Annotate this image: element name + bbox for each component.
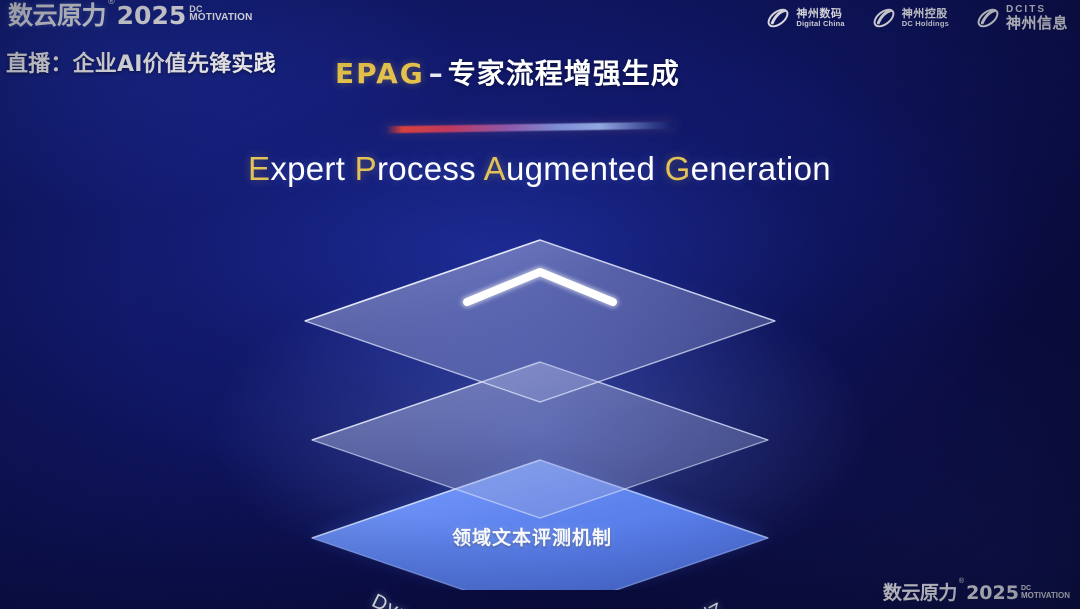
expansion-rest-expert: xpert [270,150,345,187]
swirl-logo-icon [765,5,791,31]
partner-logo-dcits: DCITS 神州信息 [975,5,1068,31]
partner-name-en: DC Holdings [902,20,949,28]
swirl-logo-icon [871,5,897,31]
watermark-name-cn: 数云原力 [883,584,957,603]
title-acronym: EPAG [335,57,425,90]
partner-logo-text: 神州数码 Digital China [796,8,844,27]
brand-year: 2025 [117,3,187,28]
layer-label-long-text-memory: 长文本记忆 [620,593,731,609]
partner-logo-text: 神州控股 DC Holdings [902,8,949,27]
expansion-rest-augmented: ugmented [506,150,655,187]
partner-logo-dc-holdings: 神州控股 DC Holdings [871,5,949,31]
brand-dc-motivation: DC MOTIVATION [189,5,252,22]
partner-name-en: Digital China [796,20,844,28]
brand-registered-mark: ® [108,0,115,6]
title-expansion: Expert Process Augmented Generation [248,150,831,188]
brand-name-cn: 数云原力 [8,3,106,28]
partner-logo-text: DCITS 神州信息 [1006,5,1068,31]
partner-logo-group: 神州数码 Digital China 神州控股 DC Holdings DCIT… [765,5,1068,31]
title-dash: – [425,57,448,90]
slide-canvas: 数云原力 ® 2025 DC MOTIVATION 直播：企业AI价值先锋实践 … [0,0,1080,609]
expansion-cap-a: A [484,150,506,187]
diagram-svg [0,190,1080,590]
accent-gradient-bar [385,122,675,134]
swirl-logo-icon [975,5,1001,31]
expansion-cap-e: E [248,150,270,187]
event-brand-logo: 数云原力 ® 2025 DC MOTIVATION [8,3,253,28]
expansion-cap-g: G [665,150,691,187]
watermark-dc-motivation: DC MOTIVATION [1021,586,1070,600]
partner-name-en: DCITS [1006,5,1068,16]
watermark-registered-mark: ® [959,578,964,585]
live-stream-title: 直播：企业AI价值先锋实践 [6,46,276,78]
expansion-rest-process: rocess [377,150,476,187]
corner-watermark: 数云原力 ® 2025 DC MOTIVATION [883,584,1070,603]
expansion-rest-generation: eneration [691,150,831,187]
layer-label-dynamic-moe: Dynamic MOE [368,590,509,609]
page-title: EPAG–专家流程增强生成 [335,52,680,92]
expansion-cap-p: P [355,150,377,187]
brand-dc-line2: MOTIVATION [189,13,252,22]
watermark-year: 2025 [966,584,1019,603]
watermark-dc-line2: MOTIVATION [1021,592,1070,599]
partner-logo-digital-china: 神州数码 Digital China [765,5,844,31]
layered-architecture-diagram: 领域文本评测机制 Dynamic MOE 长文本记忆 三类语义建模模块 [0,190,1080,590]
title-chinese: 专家流程增强生成 [448,57,680,90]
partner-name-cn: 神州信息 [1006,16,1068,32]
